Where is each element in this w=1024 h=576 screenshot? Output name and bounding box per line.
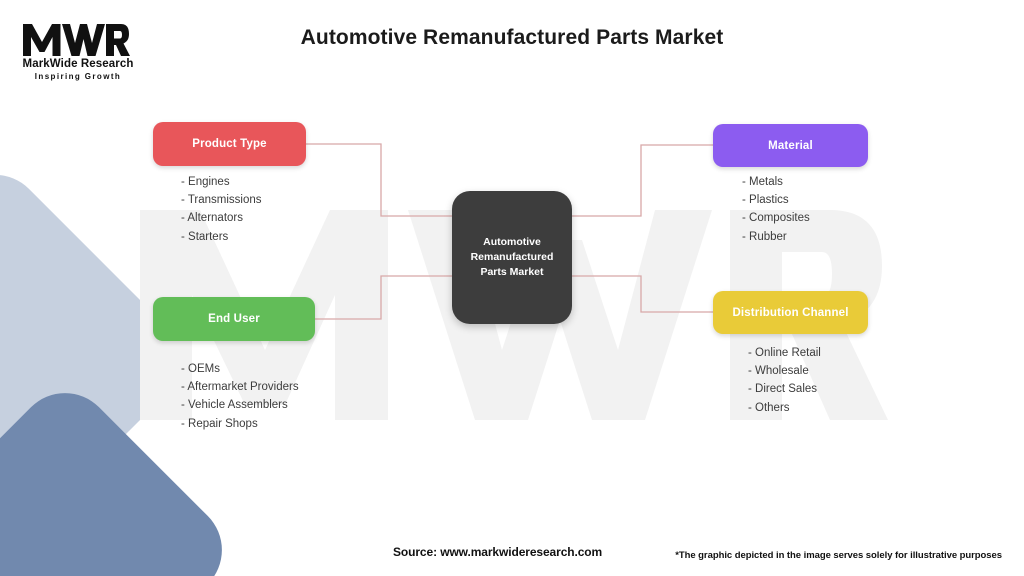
list-item: - Metals xyxy=(742,173,810,191)
center-node[interactable]: Automotive Remanufactured Parts Market xyxy=(452,191,572,324)
segment-pill-product-type[interactable]: Product Type xyxy=(153,122,306,166)
list-item: - Starters xyxy=(181,228,262,246)
center-node-line-3: Parts Market xyxy=(471,265,554,280)
segment-label-distribution-channel: Distribution Channel xyxy=(732,307,848,319)
list-item: - Transmissions xyxy=(181,191,262,209)
list-item: - Repair Shops xyxy=(181,415,299,433)
connector-product-type xyxy=(306,144,452,216)
source-text: Source: www.markwideresearch.com xyxy=(393,545,602,559)
segment-label-material: Material xyxy=(768,140,813,152)
segment-list-distribution-channel: - Online Retail - Wholesale - Direct Sal… xyxy=(748,344,821,417)
slide-canvas: MarkWide Research Inspiring Growth Autom… xyxy=(0,0,1024,576)
logo-tagline: Inspiring Growth xyxy=(16,71,140,83)
list-item: - Plastics xyxy=(742,191,810,209)
connector-material xyxy=(572,145,713,216)
segment-list-material: - Metals - Plastics - Composites - Rubbe… xyxy=(742,173,810,246)
list-item: - Online Retail xyxy=(748,344,821,362)
list-item: - Others xyxy=(748,399,821,417)
segment-pill-material[interactable]: Material xyxy=(713,124,868,167)
segment-pill-distribution-channel[interactable]: Distribution Channel xyxy=(713,291,868,334)
list-item: - Wholesale xyxy=(748,362,821,380)
disclaimer-text: *The graphic depicted in the image serve… xyxy=(675,550,1002,561)
list-item: - Engines xyxy=(181,173,262,191)
list-item: - Aftermarket Providers xyxy=(181,378,299,396)
list-item: - Rubber xyxy=(742,228,810,246)
segment-label-end-user: End User xyxy=(208,313,260,325)
page-title: Automotive Remanufactured Parts Market xyxy=(0,26,1024,50)
center-node-label: Automotive Remanufactured Parts Market xyxy=(465,235,560,280)
logo-company-name: MarkWide Research xyxy=(16,58,140,71)
list-item: - Alternators xyxy=(181,209,262,227)
center-node-line-2: Remanufactured xyxy=(471,250,554,265)
list-item: - Vehicle Assemblers xyxy=(181,396,299,414)
segment-list-end-user: - OEMs - Aftermarket Providers - Vehicle… xyxy=(181,360,299,433)
decorative-square-light xyxy=(0,155,200,565)
segment-label-product-type: Product Type xyxy=(192,138,266,150)
segment-pill-end-user[interactable]: End User xyxy=(153,297,315,341)
center-node-line-1: Automotive xyxy=(471,235,554,250)
list-item: - Composites xyxy=(742,209,810,227)
list-item: - Direct Sales xyxy=(748,380,821,398)
connector-end-user xyxy=(315,276,452,319)
list-item: - OEMs xyxy=(181,360,299,378)
segment-list-product-type: - Engines - Transmissions - Alternators … xyxy=(181,173,262,246)
connector-distribution-channel xyxy=(572,276,713,312)
